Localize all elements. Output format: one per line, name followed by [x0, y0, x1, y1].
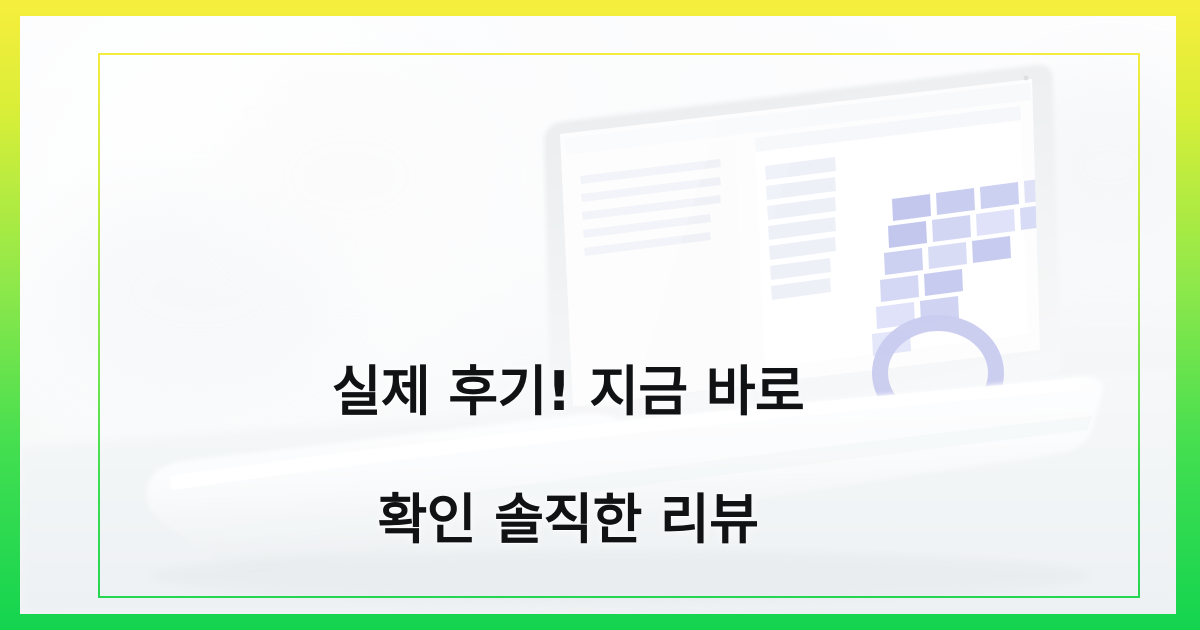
webcam-dot — [1024, 76, 1029, 81]
inner-white-plate: 실제 후기! 지금 바로 확인 솔직한 리뷰 — [20, 16, 1176, 614]
headline-line-1: 실제 후기! 지금 바로 — [20, 360, 1116, 424]
page-title: 실제 후기! 지금 바로 확인 솔직한 리뷰 — [20, 296, 1176, 614]
headline-line-2: 확인 솔직한 리뷰 — [20, 488, 1116, 552]
poster-canvas: 실제 후기! 지금 바로 확인 솔직한 리뷰 — [0, 0, 1200, 630]
